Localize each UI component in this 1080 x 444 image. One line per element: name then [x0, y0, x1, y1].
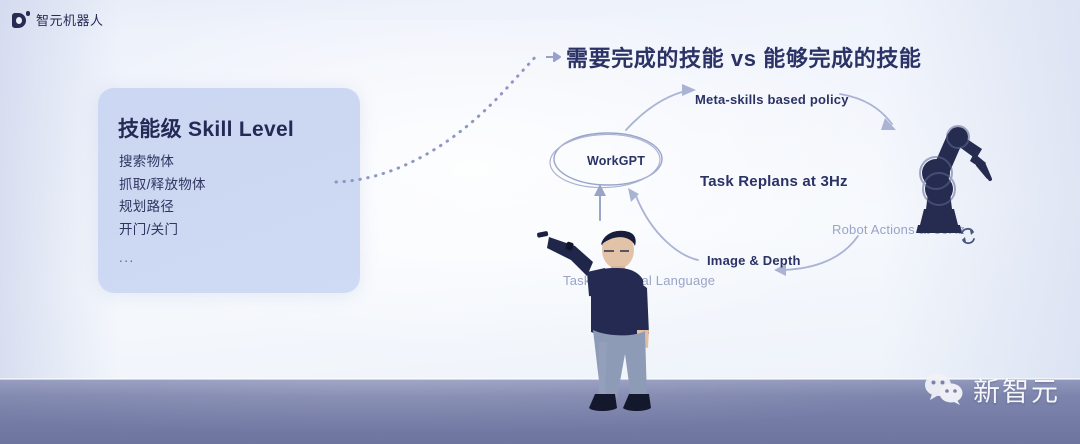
list-item: 抓取/释放物体	[119, 174, 206, 197]
skill-card-title: 技能级 Skill Level	[118, 113, 294, 143]
watermark: 新智元	[924, 370, 1060, 409]
list-item-ellipsis: ...	[119, 241, 206, 270]
arrow-task-language-to-workgpt	[594, 184, 606, 220]
skill-card-list: 搜索物体 抓取/释放物体 规划路径 开门/关门 ...	[119, 151, 206, 270]
presenter-person-icon	[531, 222, 671, 432]
brand-logo-label: 智元机器人	[36, 10, 104, 29]
list-item: 搜索物体	[119, 151, 206, 174]
list-item: 规划路径	[119, 196, 206, 219]
arrow-workgpt-to-meta-skills	[626, 84, 696, 130]
label-image-depth: Image & Depth	[707, 252, 801, 269]
arrow-right-icon	[546, 50, 564, 64]
skill-level-card: 技能级 Skill Level 搜索物体 抓取/释放物体 规划路径 开门/关门 …	[98, 88, 360, 293]
watermark-label: 新智元	[973, 370, 1060, 409]
robot-arm-icon	[890, 105, 1000, 245]
workgpt-node-label: WorkGPT	[578, 154, 654, 168]
list-item: 开门/关门	[119, 219, 206, 242]
label-task-replans: Task Replans at 3Hz	[700, 173, 848, 190]
screenshot-root: 智元机器人 技能级 Skill Level 搜索物体 抓取/释放物体 规划路径 …	[0, 0, 1080, 444]
brand-logo: 智元机器人	[12, 10, 104, 29]
page-title: 需要完成的技能 vs 能够完成的技能	[566, 41, 922, 73]
refresh-loop-icon	[958, 226, 978, 246]
zhiyuan-d-mark-icon	[12, 11, 29, 28]
label-meta-skills-policy: Meta-skills based policy	[695, 91, 849, 108]
wechat-icon	[924, 373, 964, 407]
